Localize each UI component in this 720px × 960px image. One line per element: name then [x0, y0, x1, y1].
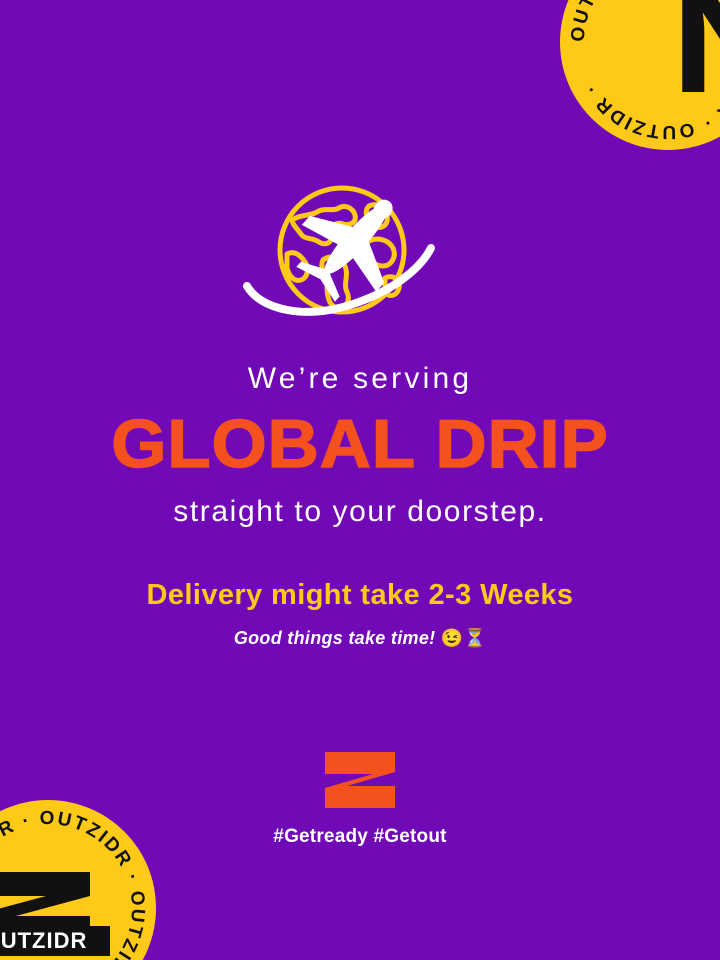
- tagline-text: Good things take time!: [234, 628, 436, 648]
- footer-lockup: #Getready #Getout: [0, 750, 720, 848]
- svg-text:OUTZIDR: OUTZIDR: [0, 928, 87, 953]
- brand-z-logo: [321, 750, 399, 810]
- hashtags-text: #Getready #Getout: [0, 826, 720, 848]
- poster-canvas: OUTZIDR · OUTZIDR · OUTZIDR · OUTZIDR · …: [0, 0, 720, 960]
- tagline-row: Good things take time! 😉⏳: [24, 627, 696, 650]
- eyebrow-text: We’re serving: [24, 362, 696, 397]
- badge-top-right: OUTZIDR · OUTZIDR · OUTZIDR · OUTZIDR · …: [558, 0, 720, 152]
- headline-text: GLOBAL DRIP: [11, 409, 710, 480]
- subline-text: straight to your doorstep.: [24, 494, 696, 530]
- delivery-estimate-text: Delivery might take 2-3 Weeks: [24, 578, 696, 613]
- copy-block: We’re serving GLOBAL DRIP straight to yo…: [0, 362, 720, 650]
- tagline-emoji: 😉⏳: [441, 628, 486, 648]
- badge-wordmark: OUTZIDR: [0, 926, 110, 956]
- badge-letter-top-right: N: [671, 0, 720, 124]
- hero-illustration: [0, 168, 720, 338]
